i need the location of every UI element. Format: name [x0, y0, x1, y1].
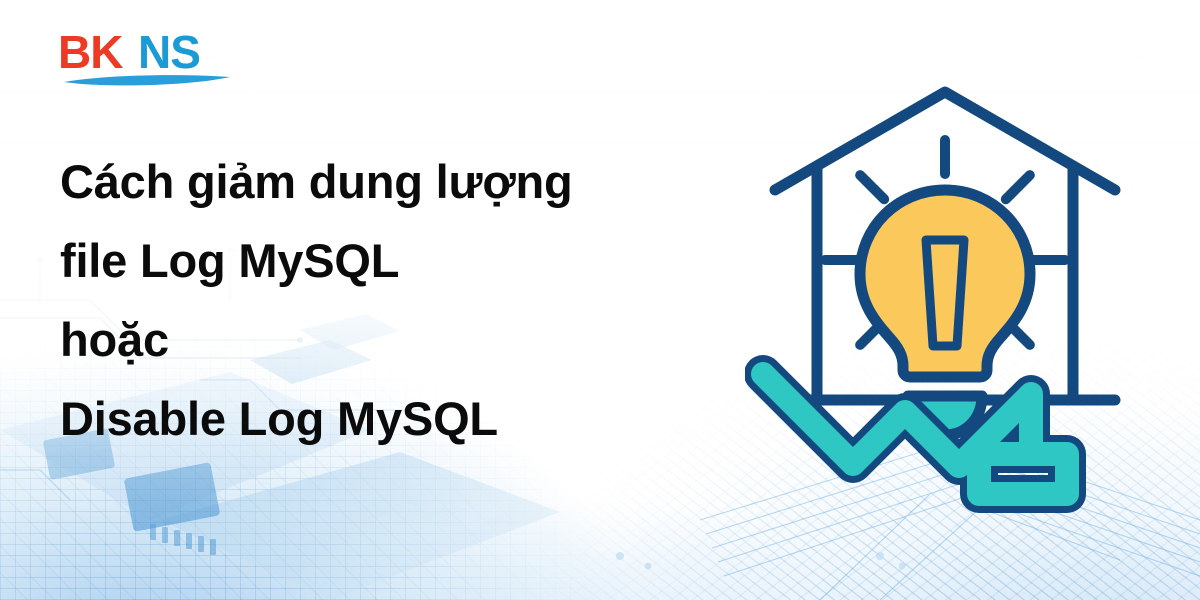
- title-line-4: Disable Log MySQL: [60, 379, 740, 458]
- title-line-2: file Log MySQL: [60, 221, 740, 300]
- logo-text-ns: NS: [138, 30, 200, 78]
- logo-text-bk: BK: [58, 30, 123, 78]
- banner-canvas: BK NS Cách giảm dung lượng file Log MySQ…: [0, 0, 1200, 600]
- title-line-3: hoặc: [60, 300, 740, 379]
- hero-illustration: [745, 78, 1145, 523]
- bkns-logo[interactable]: BK NS: [58, 30, 238, 94]
- bkns-logo-art: BK NS: [58, 30, 238, 94]
- title-line-1: Cách giảm dung lượng: [60, 142, 740, 221]
- house-bulb-arrow-art: [745, 78, 1145, 523]
- page-title: Cách giảm dung lượng file Log MySQL hoặc…: [60, 142, 740, 458]
